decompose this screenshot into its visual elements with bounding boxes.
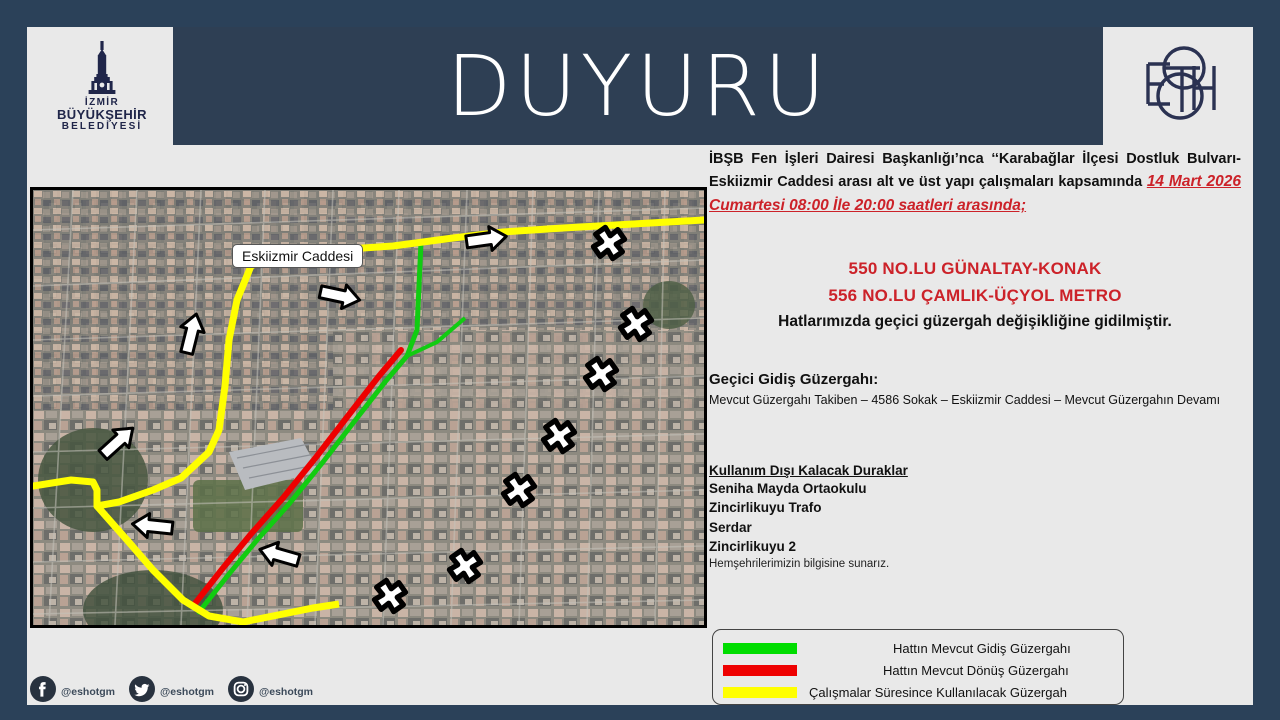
list-item: Zincirlikuyu 2 [709,537,1241,556]
lines-note: Hatlarımızda geçici güzergah değişikliği… [709,313,1241,331]
list-item: Seniha Mayda Ortaokulu [709,479,1241,498]
closed-stop-marker [502,473,536,507]
notice-paragraph: İBŞB Fen İşleri Dairesi Başkanlığı’nca ‘… [709,148,1241,219]
legend-swatch-red [723,665,797,676]
izmir-municipality-logo: İZMİR BÜYÜKŞEHİR BELEDİYESİ [32,30,172,142]
closed-stop-marker [448,549,482,583]
legend-label-outbound: Hattın Mevcut Gidiş Güzergahı [893,641,1071,656]
legend-label-return: Hattın Mevcut Dönüş Güzergahı [883,663,1069,678]
social-handle-facebook: @eshotgm [61,686,115,698]
closed-stops-list: Seniha Mayda Ortaokulu Zincirlikuyu Traf… [709,479,1241,557]
line-556: 556 NO.LU ÇAMLIK-ÜÇYOL METRO [709,282,1241,309]
route-heading: Geçici Gidiş Güzergahı: [709,371,1241,388]
closed-stop-marker [542,419,576,453]
izmir-clock-tower-icon [80,40,124,98]
closing-note: Hemşehrilerimizin bilgisine sunarız. [709,558,1241,570]
affected-lines: 550 NO.LU GÜNALTAY-KONAK 556 NO.LU ÇAMLI… [709,255,1241,331]
legend-item-detour: Çalışmalar Süresince Kullanılacak Güzerg… [713,681,1123,703]
legend-swatch-yellow [723,687,797,698]
announcement-poster: DUYURU İZMİR BÜYÜKŞEHİR BELEDİYESİ [0,0,1280,720]
logo-line-belediyesi: BELEDİYESİ [62,122,142,133]
street-name-label: Eskiizmir Caddesi [232,244,363,268]
social-instagram[interactable]: @eshotgm [228,676,313,707]
legend-item-return: Hattın Mevcut Dönüş Güzergahı [713,659,1123,681]
list-item: Serdar [709,518,1241,537]
closed-stop-marker [373,579,407,613]
social-twitter[interactable]: @eshotgm [129,676,214,707]
legend-label-detour: Çalışmalar Süresince Kullanılacak Güzerg… [809,685,1067,700]
footer-band [0,705,1280,720]
route-map[interactable] [30,187,707,628]
list-item: Zincirlikuyu Trafo [709,498,1241,517]
line-550: 550 NO.LU GÜNALTAY-KONAK [709,255,1241,282]
facebook-icon[interactable] [30,676,56,707]
page-title: DUYURU [173,27,1103,145]
eshot-monogram-icon [1130,38,1226,135]
closed-stops-heading: Kullanım Dışı Kalacak Duraklar [709,463,1241,478]
twitter-icon[interactable] [129,676,155,707]
eshot-logo [1104,30,1251,142]
legend-swatch-green [723,643,797,654]
route-description: Mevcut Güzergahı Takiben – 4586 Sokak – … [709,391,1241,409]
closed-stop-marker [584,357,618,391]
logo-line-buyuksehir: BÜYÜKŞEHİR [57,108,147,122]
social-facebook[interactable]: @eshotgm [30,676,115,707]
closed-stop-marker [592,226,626,260]
map-legend: Hattın Mevcut Gidiş Güzergahı Hattın Mev… [712,629,1124,705]
legend-item-outbound: Hattın Mevcut Gidiş Güzergahı [713,637,1123,659]
social-handle-instagram: @eshotgm [259,686,313,698]
closed-stop-marker [619,307,653,341]
social-handle-twitter: @eshotgm [160,686,214,698]
instagram-icon[interactable] [228,676,254,707]
social-bar: @eshotgm @eshotgm @eshotgm [30,676,327,707]
